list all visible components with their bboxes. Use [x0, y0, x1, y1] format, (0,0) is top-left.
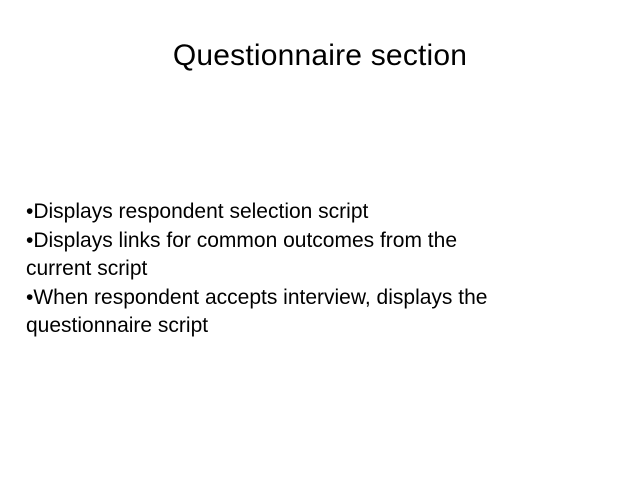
bullet-line-3: current script — [26, 255, 626, 284]
bullet-line-4: •When respondent accepts interview, disp… — [26, 284, 626, 313]
page-title: Questionnaire section — [0, 38, 640, 74]
bullet-list: •Displays respondent selection script •D… — [26, 198, 626, 341]
slide-canvas: Questionnaire section •Displays responde… — [0, 0, 640, 480]
bullet-line-5: questionnaire script — [26, 312, 626, 341]
bullet-line-2: •Displays links for common outcomes from… — [26, 227, 626, 256]
bullet-line-1: •Displays respondent selection script — [26, 198, 626, 227]
